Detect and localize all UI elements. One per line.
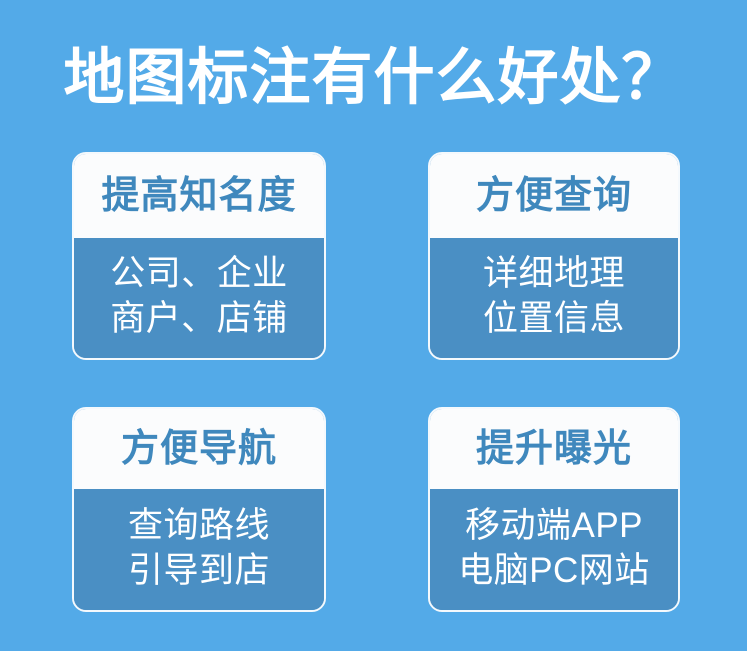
benefit-card-body-line: 位置信息	[483, 296, 625, 341]
benefit-card-body-line: 引导到店	[128, 548, 270, 593]
benefit-card-body: 查询路线 引导到店	[74, 489, 324, 610]
benefit-card-easy-search[interactable]: 方便查询 详细地理 位置信息	[428, 152, 680, 360]
benefit-card-body: 公司、企业 商户、店铺	[74, 238, 324, 358]
promo-poster: 地图标注有什么好处？ 提高知名度 公司、企业 商户、店铺 方便查询 详细地理 位…	[0, 0, 747, 651]
benefit-card-body: 移动端APP 电脑PC网站	[430, 489, 678, 610]
benefit-card-increased-exposure[interactable]: 提升曝光 移动端APP 电脑PC网站	[428, 407, 680, 612]
benefit-card-header: 方便导航	[74, 409, 324, 489]
benefit-card-body-line: 查询路线	[128, 503, 270, 548]
page-title: 地图标注有什么好处？	[0, 42, 747, 112]
benefit-card-easy-navigation[interactable]: 方便导航 查询路线 引导到店	[72, 407, 326, 612]
benefit-card-body-line: 商户、店铺	[110, 296, 288, 341]
benefit-card-header: 提升曝光	[430, 409, 678, 489]
benefit-card-header: 提高知名度	[74, 154, 324, 238]
benefit-card-body-line: 电脑PC网站	[458, 548, 650, 593]
benefit-card-body-line: 详细地理	[483, 251, 625, 296]
benefit-card-body: 详细地理 位置信息	[430, 238, 678, 358]
benefit-card-brand-awareness[interactable]: 提高知名度 公司、企业 商户、店铺	[72, 152, 326, 360]
benefit-card-body-line: 移动端APP	[465, 503, 643, 548]
benefit-card-header: 方便查询	[430, 154, 678, 238]
benefit-card-body-line: 公司、企业	[110, 251, 288, 296]
